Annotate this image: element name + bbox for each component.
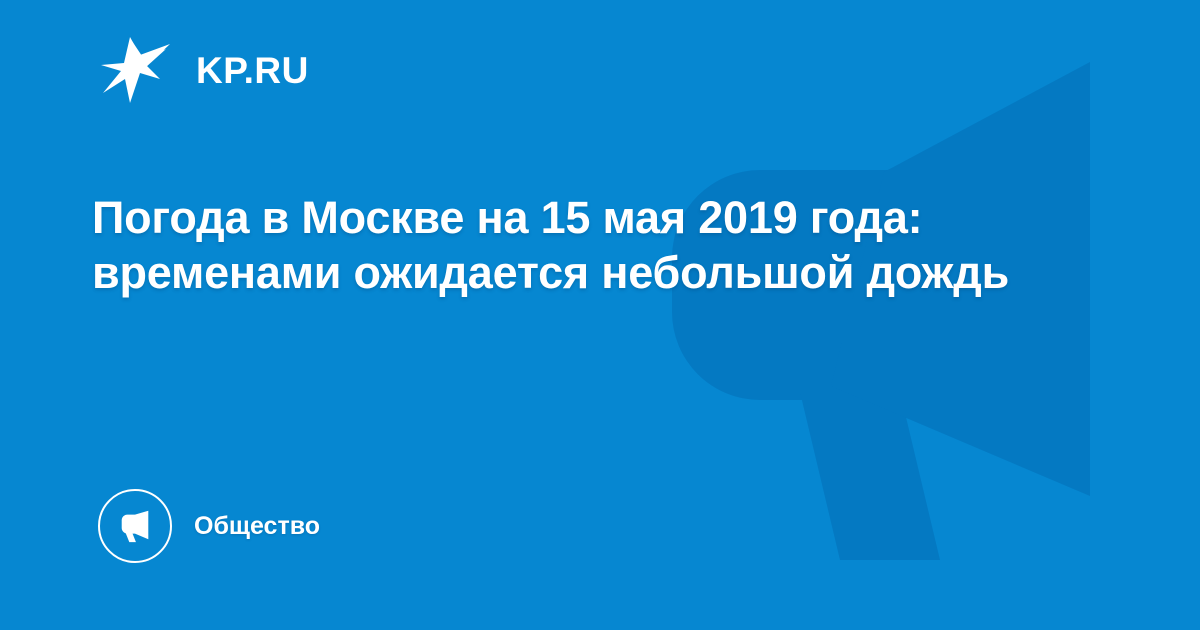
swallow-bird-icon (100, 35, 174, 105)
megaphone-icon (116, 507, 154, 545)
page-title: Погода в Москве на 15 мая 2019 года: вре… (92, 190, 1052, 300)
rubric-badge[interactable]: Общество (98, 488, 320, 564)
brand-wordmark: KP.RU (196, 52, 309, 89)
rubric-icon-circle (98, 489, 172, 563)
rubric-label: Общество (194, 514, 320, 539)
share-card: KP.RU Погода в Москве на 15 мая 2019 год… (0, 0, 1200, 630)
brand-header[interactable]: KP.RU (100, 34, 309, 106)
